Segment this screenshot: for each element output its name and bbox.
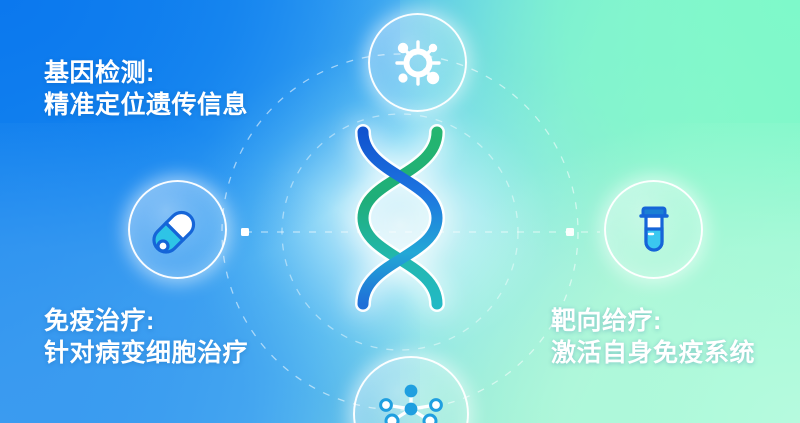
- virus-molecule-icon: [388, 33, 448, 93]
- test-tube-icon: [624, 200, 684, 260]
- capsule-pill-icon: [148, 200, 208, 260]
- badge-virus-molecule[interactable]: [368, 13, 467, 112]
- badge-capsule-pill[interactable]: [128, 180, 227, 279]
- label-gene-testing: 基因检测: 精准定位遗传信息: [44, 57, 248, 121]
- connector-node-right: [566, 228, 574, 236]
- badge-molecular-network[interactable]: [353, 356, 469, 423]
- label-targeted-therapy: 靶向给疗: 激活自身免疫系统: [551, 305, 755, 369]
- label-gene-testing-line1: 基因检测:: [44, 57, 248, 89]
- label-immunotherapy-line2: 针对病变细胞治疗: [44, 337, 248, 369]
- connector-node-left: [241, 228, 249, 236]
- infographic-canvas: 基因检测: 精准定位遗传信息 免疫治疗: 针对病变细胞治疗 靶向给疗: 激活自身…: [0, 0, 800, 423]
- label-targeted-therapy-line1: 靶向给疗:: [551, 305, 755, 337]
- label-immunotherapy: 免疫治疗: 针对病变细胞治疗: [44, 305, 248, 369]
- label-targeted-therapy-line2: 激活自身免疫系统: [551, 337, 755, 369]
- label-immunotherapy-line1: 免疫治疗:: [44, 305, 248, 337]
- label-gene-testing-line2: 精准定位遗传信息: [44, 89, 248, 121]
- molecular-network-icon: [372, 375, 450, 423]
- dna-helix-icon: [337, 122, 463, 314]
- badge-test-tube[interactable]: [604, 180, 703, 279]
